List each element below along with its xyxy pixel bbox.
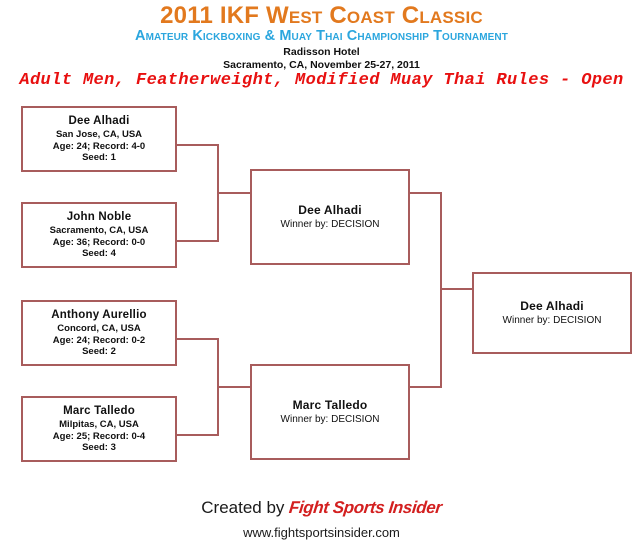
fighter-seed: Seed: 3 [82, 442, 116, 454]
created-by-label: Created by [201, 498, 289, 517]
champion-name: Dee Alhadi [520, 299, 584, 314]
fighter-seed: Seed: 4 [82, 248, 116, 260]
winner-method: Winner by: DECISION [281, 219, 380, 231]
connector-semifinal-2-out [410, 386, 442, 388]
winner-name: Dee Alhadi [298, 203, 362, 218]
connector-round1-3-out [177, 338, 219, 340]
bracket-box-round1-3[interactable]: Anthony Aurellio Concord, CA, USA Age: 2… [21, 300, 177, 366]
venue-location: Sacramento, CA, November 25-27, 2011 [0, 59, 643, 71]
connector-round1-2-out [177, 240, 219, 242]
footer-url[interactable]: www.fightsportsinsider.com [0, 525, 643, 540]
fighter-record: Age: 25; Record: 0-4 [53, 431, 145, 443]
footer-credit: Created by Fight Sports Insider [0, 498, 643, 518]
bracket-box-semifinal-2[interactable]: Marc Talledo Winner by: DECISION [250, 364, 410, 460]
brand-logo-text: Fight Sports Insider [288, 498, 443, 518]
fighter-hometown: Milpitas, CA, USA [59, 419, 139, 431]
division-title: Adult Men, Featherweight, Modified Muay … [0, 71, 643, 90]
fighter-name: John Noble [67, 210, 132, 224]
fighter-record: Age: 24; Record: 4-0 [53, 141, 145, 153]
connector-round1-4-out [177, 434, 219, 436]
bracket-box-semifinal-1[interactable]: Dee Alhadi Winner by: DECISION [250, 169, 410, 265]
bracket-sheet: 2011 IKF West Coast Classic Amateur Kick… [0, 0, 643, 554]
bracket-box-champion[interactable]: Dee Alhadi Winner by: DECISION [472, 272, 632, 354]
connector-semifinal-1-out [410, 192, 442, 194]
winner-name: Marc Talledo [293, 398, 368, 413]
winner-method: Winner by: DECISION [281, 414, 380, 426]
fighter-record: Age: 36; Record: 0-0 [53, 237, 145, 249]
fighter-hometown: Sacramento, CA, USA [50, 225, 149, 237]
bracket-box-round1-2[interactable]: John Noble Sacramento, CA, USA Age: 36; … [21, 202, 177, 268]
fighter-seed: Seed: 2 [82, 346, 116, 358]
connector-semifinal-1-in [217, 192, 250, 194]
connector-round1-1-out [177, 144, 219, 146]
fighter-record: Age: 24; Record: 0-2 [53, 335, 145, 347]
fighter-name: Dee Alhadi [68, 114, 129, 128]
tournament-title: 2011 IKF West Coast Classic [0, 2, 643, 30]
fighter-hometown: San Jose, CA, USA [56, 129, 142, 141]
venue-name: Radisson Hotel [0, 46, 643, 58]
fighter-hometown: Concord, CA, USA [57, 323, 140, 335]
connector-final-in [440, 288, 472, 290]
connector-final-join [440, 192, 442, 388]
tournament-subtitle: Amateur Kickboxing & Muay Thai Champions… [0, 28, 643, 44]
fighter-name: Marc Talledo [63, 404, 135, 418]
bracket-box-round1-1[interactable]: Dee Alhadi San Jose, CA, USA Age: 24; Re… [21, 106, 177, 172]
bracket-box-round1-4[interactable]: Marc Talledo Milpitas, CA, USA Age: 25; … [21, 396, 177, 462]
fighter-name: Anthony Aurellio [51, 308, 146, 322]
connector-semifinal-2-in [217, 386, 250, 388]
fighter-seed: Seed: 1 [82, 152, 116, 164]
champion-method: Winner by: DECISION [503, 315, 602, 327]
